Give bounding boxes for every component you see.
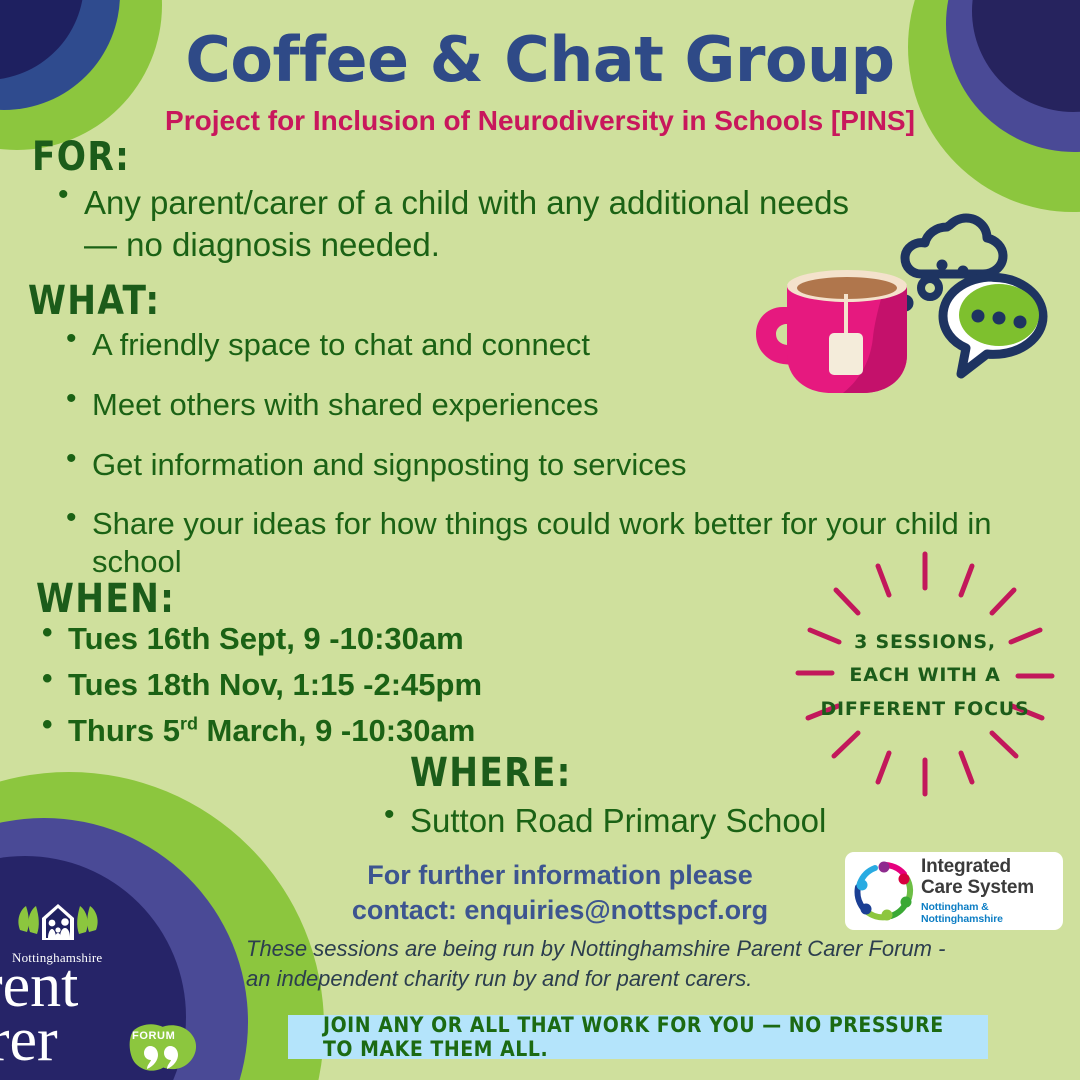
list-item: Tues 18th Nov, 1:15 -2:45pm bbox=[36, 666, 656, 703]
list-item: Sutton Road Primary School bbox=[378, 802, 998, 840]
when-list: Tues 16th Sept, 9 -10:30am Tues 18th Nov… bbox=[36, 620, 656, 759]
heading-what: WHAT: bbox=[28, 278, 160, 324]
integrated-care-system-logo: Integrated Care System Nottingham & Nott… bbox=[845, 852, 1063, 930]
join-banner: JOIN ANY OR ALL THAT WORK FOR YOU — NO P… bbox=[288, 1015, 988, 1059]
sessions-badge: 3 SESSIONS, EACH WITH A DIFFERENT FOCUS bbox=[790, 548, 1060, 798]
coffee-and-chat-illustration bbox=[735, 185, 1055, 440]
date-ordinal: rd bbox=[180, 714, 198, 734]
parent-carer-forum-logo: Nottinghamshire Parent Carer FORUM champ… bbox=[0, 866, 182, 1080]
badge-line-2: EACH WITH A bbox=[790, 659, 1060, 692]
poster-title: Coffee & Chat Group bbox=[0, 23, 1080, 96]
note-line-2: an independent charity run by and for pa… bbox=[246, 964, 1046, 994]
pcf-crest-icon bbox=[12, 902, 104, 954]
organiser-note: These sessions are being run by Nottingh… bbox=[246, 934, 1046, 994]
date-text: Tues 16th Sept, 9 -10:30am bbox=[68, 621, 464, 656]
date-text: Tues 18th Nov, 1:15 -2:45pm bbox=[68, 667, 482, 702]
join-banner-text: JOIN ANY OR ALL THAT WORK FOR YOU — NO P… bbox=[323, 1013, 953, 1061]
poster-canvas: Nottinghamshire Parent Carer FORUM champ… bbox=[0, 0, 1080, 1080]
date-text-suffix: March, 9 -10:30am bbox=[198, 713, 475, 748]
sessions-badge-text: 3 SESSIONS, EACH WITH A DIFFERENT FOCUS bbox=[790, 626, 1060, 726]
ics-line-2: Care System bbox=[921, 878, 1063, 899]
badge-line-3: DIFFERENT FOCUS bbox=[790, 693, 1060, 726]
speech-bubble-icon bbox=[943, 277, 1043, 374]
ics-logo-text: Integrated Care System Nottingham & Nott… bbox=[921, 857, 1063, 925]
list-item: Get information and signposting to servi… bbox=[60, 446, 1040, 484]
ics-people-circle-icon bbox=[851, 858, 917, 924]
note-line-1: These sessions are being run by Nottingh… bbox=[246, 934, 1046, 964]
ics-line-3: Nottingham & Nottinghamshire bbox=[921, 901, 1063, 925]
pcf-word-carer: Carer bbox=[0, 1012, 58, 1069]
contact-line-1: For further information please bbox=[300, 858, 820, 893]
heading-for: FOR: bbox=[32, 134, 130, 180]
heading-where: WHERE: bbox=[410, 750, 572, 796]
list-item: Thurs 5rd March, 9 -10:30am bbox=[36, 712, 656, 749]
heading-when: WHEN: bbox=[36, 576, 175, 622]
poster-subtitle: Project for Inclusion of Neurodiversity … bbox=[0, 105, 1080, 137]
date-text: Thurs 5 bbox=[68, 713, 180, 748]
ics-line-1: Integrated bbox=[921, 857, 1063, 878]
contact-block: For further information please contact: … bbox=[300, 858, 820, 927]
badge-line-1: 3 SESSIONS, bbox=[790, 626, 1060, 659]
where-list: Sutton Road Primary School bbox=[378, 802, 998, 840]
mug-icon bbox=[756, 270, 907, 393]
list-item: Tues 16th Sept, 9 -10:30am bbox=[36, 620, 656, 657]
contact-email[interactable]: contact: enquiries@nottspcf.org bbox=[300, 893, 820, 928]
pcf-forum-label: FORUM bbox=[132, 1030, 175, 1042]
